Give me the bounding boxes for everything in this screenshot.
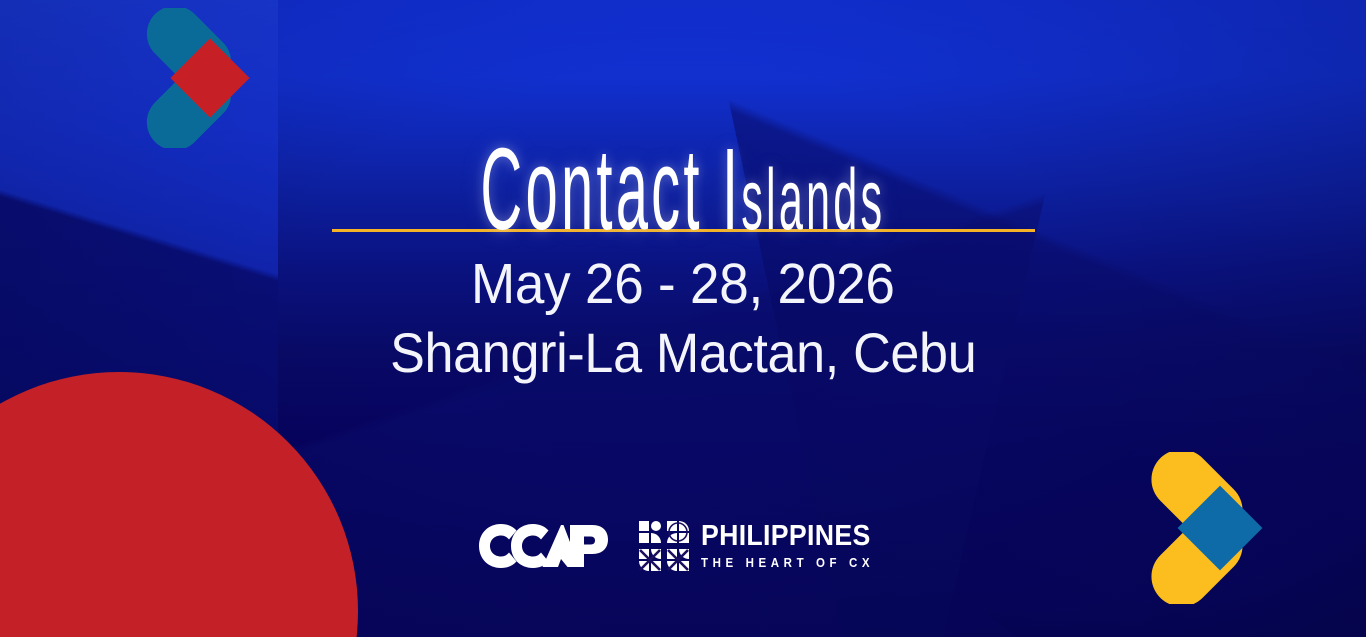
ccap-logo — [477, 522, 612, 570]
philippines-wordmark: PHILIPPINES THE HEART OF CX — [701, 522, 889, 570]
event-title: Contact Islands — [481, 131, 886, 247]
event-title-word-contact: Contact — [481, 124, 703, 254]
event-banner: Contact Islands May 26 - 28, 2026 Shangr… — [0, 0, 1366, 637]
philippines-wordmark-main: PHILIPPINES — [701, 522, 874, 551]
philippines-logo: PHILIPPINES THE HEART OF CX — [638, 520, 889, 572]
event-title-islands-rest: slands — [741, 152, 885, 248]
philippines-tagline: THE HEART OF CX — [701, 557, 874, 570]
philippines-mosaic-icon — [638, 520, 690, 572]
event-title-islands-cap: I — [722, 124, 741, 254]
event-date: May 26 - 28, 2026 — [471, 254, 895, 314]
logo-lockup: PHILIPPINES THE HEART OF CX — [0, 520, 1366, 572]
event-venue: Shangri-La Mactan, Cebu — [390, 323, 976, 382]
